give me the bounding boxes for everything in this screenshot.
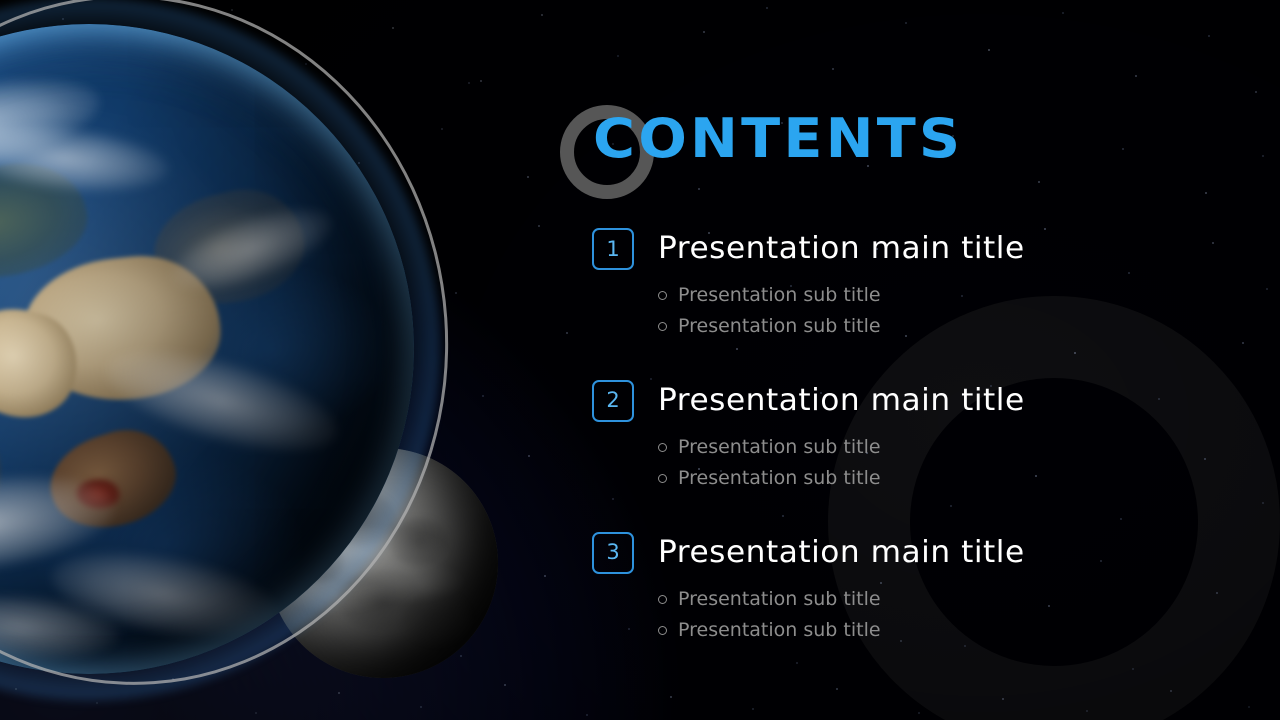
toc-sub-title: Presentation sub title (678, 311, 881, 342)
toc-sub-list: Presentation sub title Presentation sub … (658, 432, 1232, 494)
toc-item-1[interactable]: 1 Presentation main title Presentation s… (592, 228, 1232, 342)
toc-sub-item[interactable]: Presentation sub title (658, 432, 1232, 463)
toc-item-header: 2 Presentation main title (592, 380, 1232, 422)
circle-bullet-icon (658, 291, 667, 300)
number-badge-label: 3 (606, 542, 619, 563)
toc-item-2[interactable]: 2 Presentation main title Presentation s… (592, 380, 1232, 494)
toc-sub-item[interactable]: Presentation sub title (658, 311, 1232, 342)
toc-sub-item[interactable]: Presentation sub title (658, 463, 1232, 494)
toc-sub-title: Presentation sub title (678, 463, 881, 494)
circle-bullet-icon (658, 474, 667, 483)
page-title: CONTENTS (593, 112, 963, 166)
circle-bullet-icon (658, 443, 667, 452)
toc-item-3[interactable]: 3 Presentation main title Presentation s… (592, 532, 1232, 646)
toc-sub-list: Presentation sub title Presentation sub … (658, 584, 1232, 646)
toc-main-title: Presentation main title (658, 234, 1025, 264)
toc-sub-item[interactable]: Presentation sub title (658, 280, 1232, 311)
toc-sub-title: Presentation sub title (678, 432, 881, 463)
toc-item-header: 3 Presentation main title (592, 532, 1232, 574)
table-of-contents-list: 1 Presentation main title Presentation s… (592, 228, 1232, 684)
toc-item-header: 1 Presentation main title (592, 228, 1232, 270)
toc-main-title: Presentation main title (658, 538, 1025, 568)
toc-sub-item[interactable]: Presentation sub title (658, 584, 1232, 615)
toc-main-title: Presentation main title (658, 386, 1025, 416)
number-badge-3: 3 (592, 532, 634, 574)
number-badge-label: 1 (606, 239, 619, 260)
circle-bullet-icon (658, 595, 667, 604)
presentation-slide: CONTENTS 1 Presentation main title Prese… (0, 0, 1280, 720)
toc-sub-title: Presentation sub title (678, 584, 881, 615)
toc-sub-title: Presentation sub title (678, 280, 881, 311)
content-column: CONTENTS 1 Presentation main title Prese… (560, 0, 1280, 720)
number-badge-label: 2 (606, 390, 619, 411)
circle-bullet-icon (658, 322, 667, 331)
number-badge-1: 1 (592, 228, 634, 270)
toc-sub-title: Presentation sub title (678, 615, 881, 646)
toc-sub-list: Presentation sub title Presentation sub … (658, 280, 1232, 342)
toc-sub-item[interactable]: Presentation sub title (658, 615, 1232, 646)
circle-bullet-icon (658, 626, 667, 635)
number-badge-2: 2 (592, 380, 634, 422)
